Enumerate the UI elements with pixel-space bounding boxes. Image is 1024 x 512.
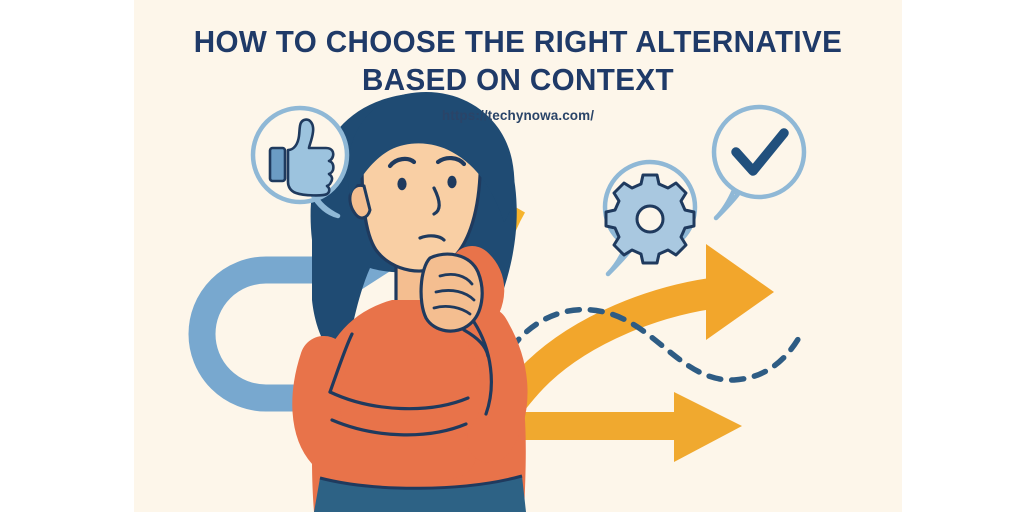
poster-canvas: HOW TO CHOOSE THE RIGHT ALTERNATIVE BASE…: [0, 0, 1024, 512]
illustration-artwork: [134, 0, 902, 512]
gear-icon: [606, 175, 694, 263]
illustration-panel: HOW TO CHOOSE THE RIGHT ALTERNATIVE BASE…: [134, 0, 902, 512]
gear-bubble: [605, 162, 695, 274]
check-bubble: [714, 107, 804, 218]
